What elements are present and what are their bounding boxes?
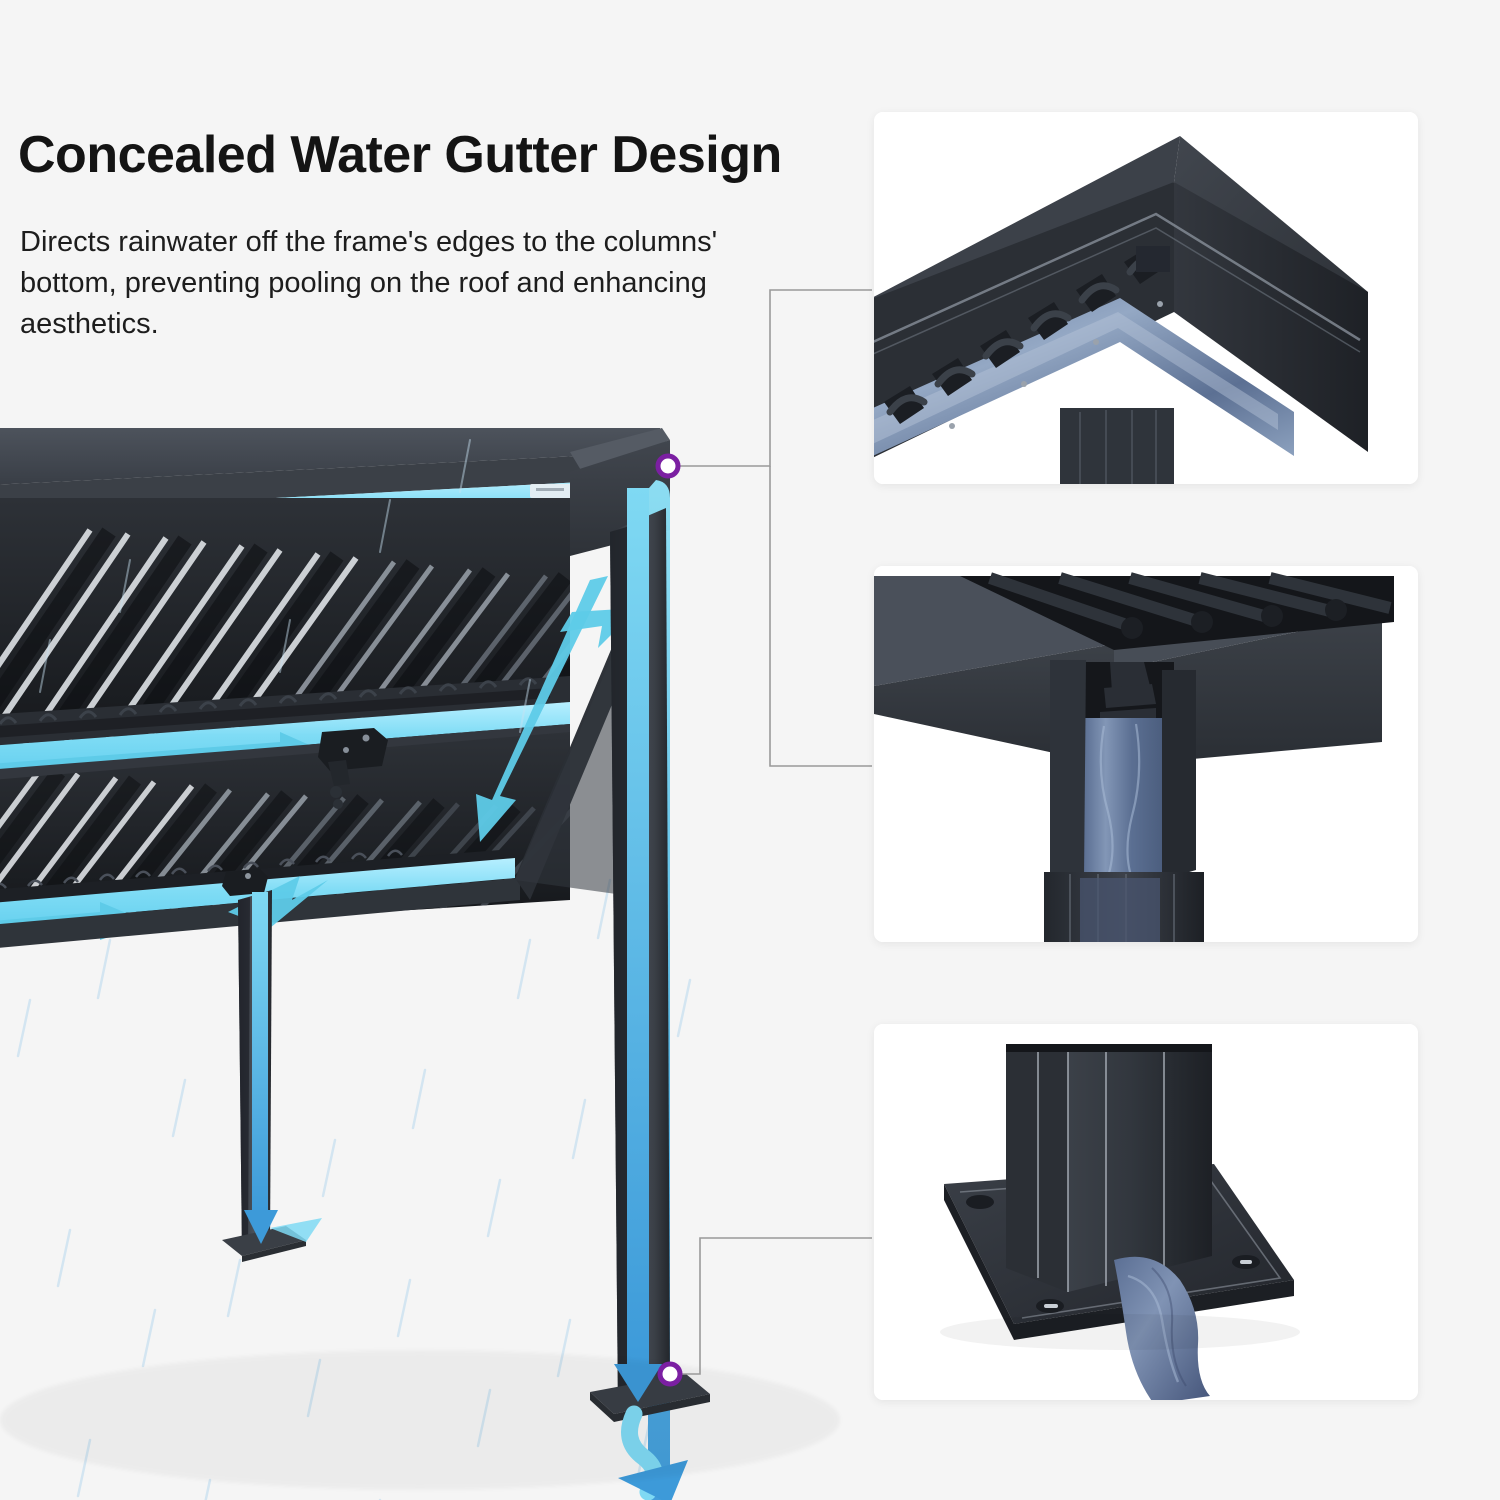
water-falling — [1080, 718, 1166, 886]
infographic-canvas: Concealed Water Gutter Design Directs ra… — [0, 0, 1500, 1500]
inset-photo-gutter-corner[interactable] — [874, 112, 1418, 484]
page-description: Directs rainwater off the frame's edges … — [20, 222, 720, 346]
connector-line-mid — [770, 466, 872, 766]
page-title: Concealed Water Gutter Design — [18, 128, 898, 183]
inner-column — [1060, 408, 1174, 484]
corner-column-front-right — [590, 508, 710, 1422]
flow-arrow-rear-column-downspout — [244, 892, 322, 1244]
louvered-pergola-rain-diagram — [0, 380, 760, 1500]
ground-shadow — [0, 1350, 840, 1490]
inset-photo-base-discharge[interactable] — [874, 1024, 1418, 1400]
inset-photo-column-downspout[interactable] — [874, 566, 1418, 942]
